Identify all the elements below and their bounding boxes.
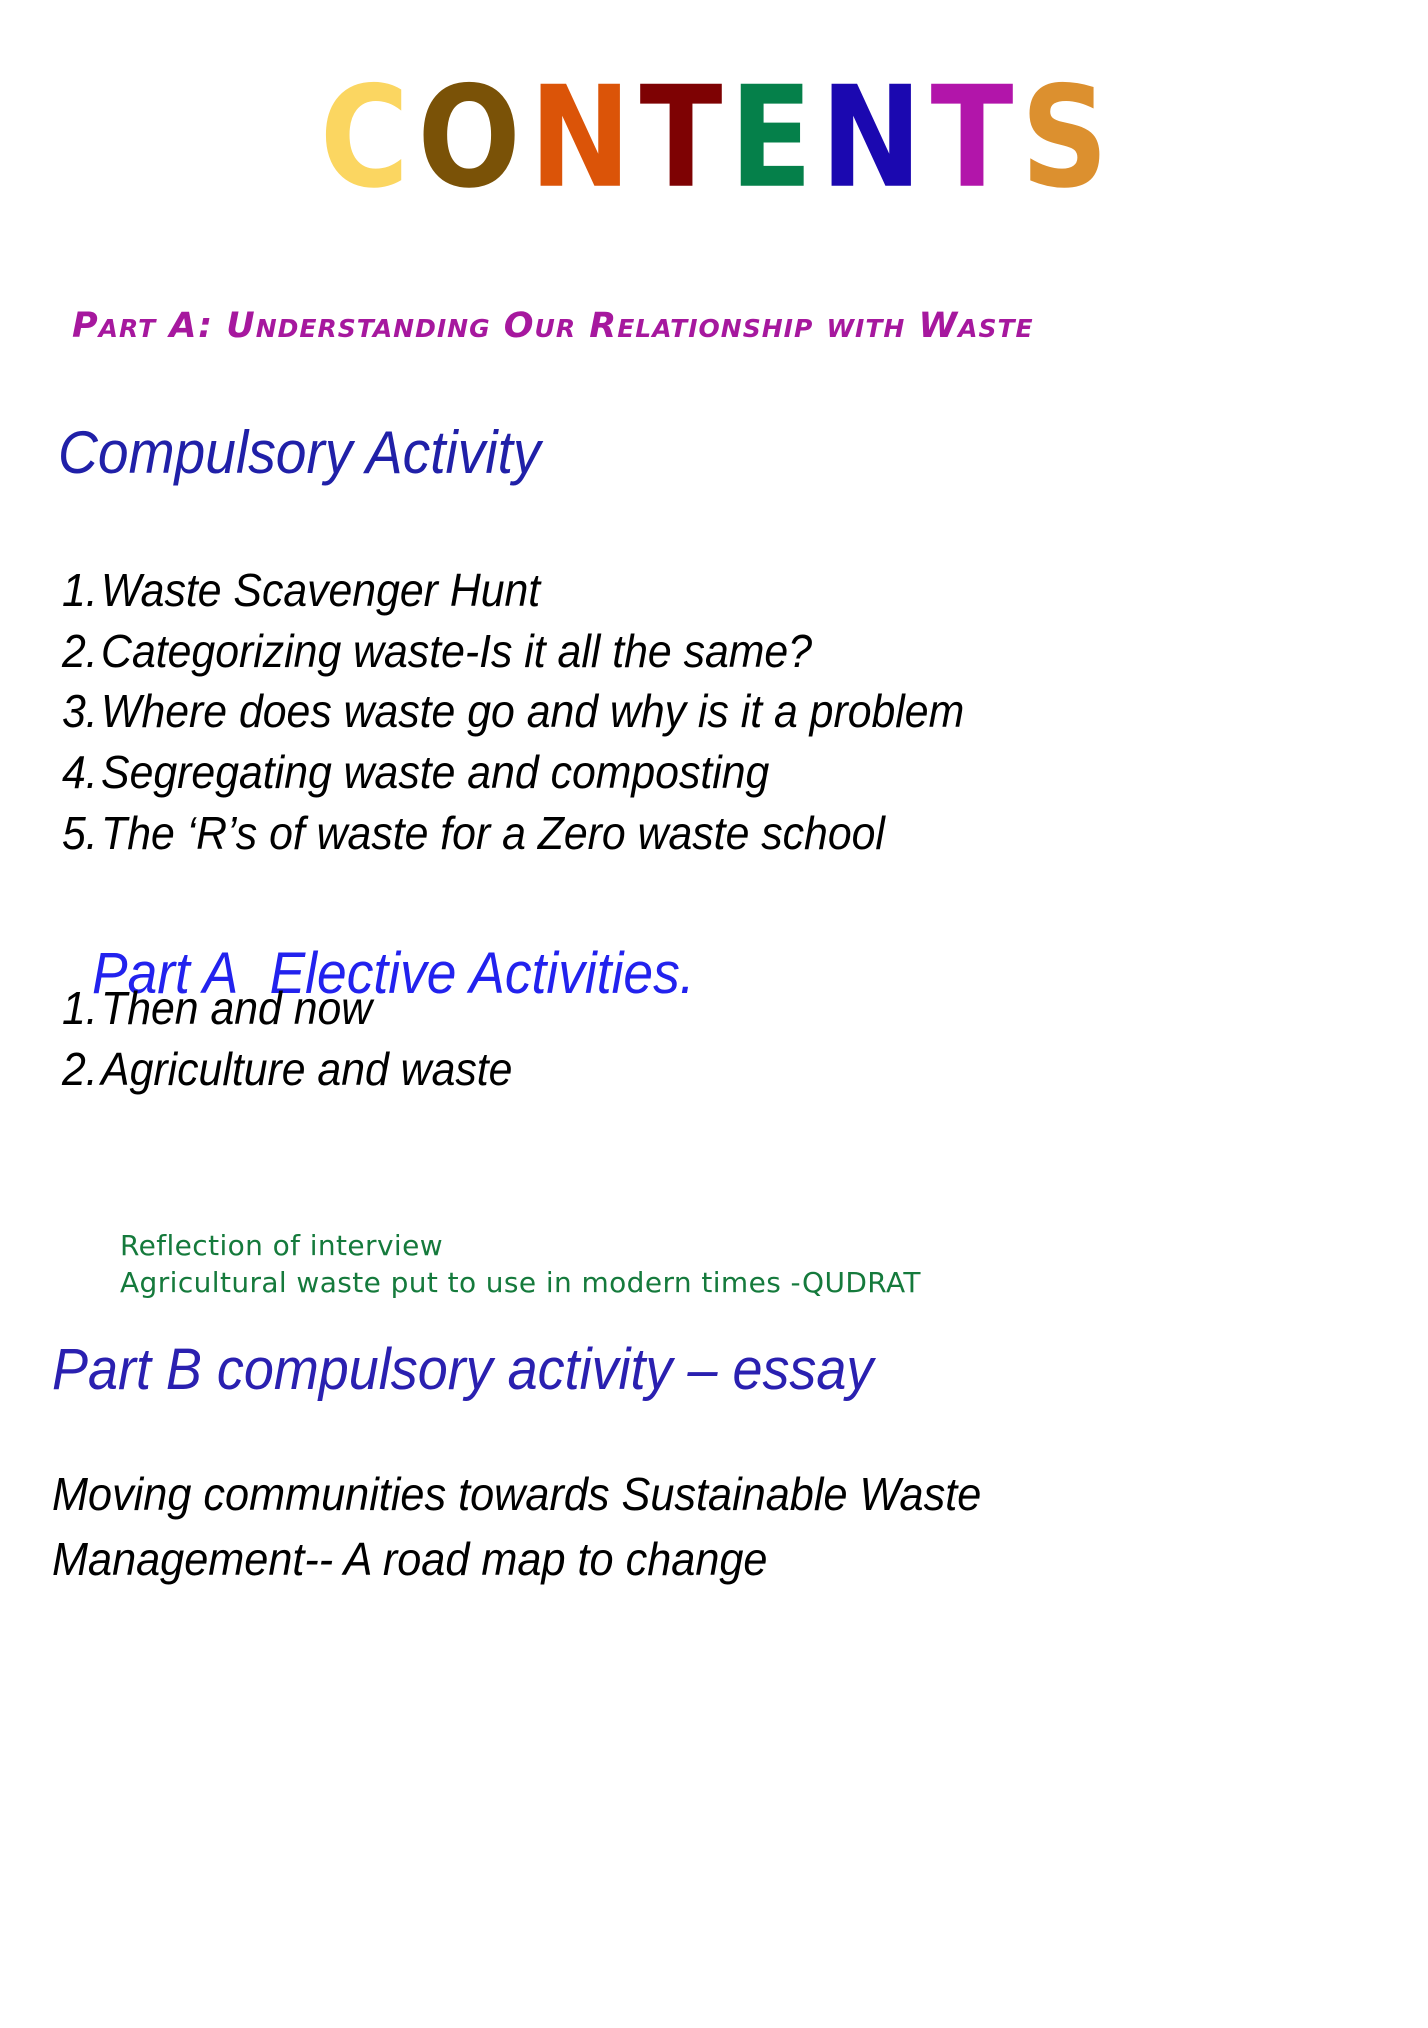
list-item: 1.Waste Scavenger Hunt (62, 560, 964, 621)
list-item: 5.The ‘R’s of waste for a Zero waste sch… (62, 803, 964, 864)
list-item-label: Agriculture and waste (101, 1043, 512, 1095)
essay-line: Moving communities towards Sustainable W… (52, 1462, 1142, 1527)
annotation-line: Reflection of interview (120, 1228, 921, 1265)
list-item-label: Where does waste go and why is it a prob… (101, 685, 964, 737)
title-letter-8: S (1020, 68, 1107, 208)
title-letter-3: N (530, 68, 632, 208)
handwritten-annotation-block: Reflection of interview Agricultural was… (120, 1228, 921, 1302)
list-item-number: 4. (62, 742, 101, 803)
annotation-line: Agricultural waste put to use in modern … (120, 1265, 921, 1302)
list-item-number: 1. (62, 978, 101, 1039)
list-item-number: 2. (62, 1039, 101, 1100)
compulsory-activity-heading: Compulsory Activity (58, 418, 541, 487)
list-item-number: 2. (62, 621, 101, 682)
title-letter-1: C (320, 68, 409, 208)
title-letter-7: T (930, 68, 1013, 208)
list-item-number: 5. (62, 803, 101, 864)
list-item-label: The ‘R’s of waste for a Zero waste schoo… (101, 807, 885, 859)
list-item: 3.Where does waste go and why is it a pr… (62, 681, 964, 742)
compulsory-activity-list: 1.Waste Scavenger Hunt 2.Categorizing wa… (62, 560, 1032, 864)
list-item-number: 1. (62, 560, 101, 621)
list-item-label: Categorizing waste-Is it all the same? (101, 625, 812, 677)
title-letter-2: O (418, 68, 521, 208)
elective-activity-list: 1.Then and now 2.Agriculture and waste (62, 978, 546, 1099)
list-item-label: Then and now (101, 982, 372, 1034)
document-page: CONTENTS Part A: Understanding Our Relat… (0, 0, 1428, 2028)
essay-line: Management-- A road map to change (52, 1527, 1142, 1592)
essay-title-block: Moving communities towards Sustainable W… (52, 1462, 1212, 1593)
part-b-heading: Part B compulsory activity – essay (52, 1336, 873, 1403)
list-item-label: Segregating waste and composting (101, 746, 769, 798)
list-item-label: Waste Scavenger Hunt (101, 564, 540, 616)
list-item: 2.Categorizing waste-Is it all the same? (62, 621, 964, 682)
title-letter-4: T (639, 68, 722, 208)
list-item: 1.Then and now (62, 978, 512, 1039)
list-item: 2.Agriculture and waste (62, 1039, 512, 1100)
page-title: CONTENTS (0, 76, 1428, 208)
part-a-subtitle: Part A: Understanding Our Relationship w… (72, 306, 1034, 346)
title-letter-5: E (730, 68, 813, 208)
list-item-number: 3. (62, 681, 101, 742)
list-item: 4.Segregating waste and composting (62, 742, 964, 803)
title-letter-6: N (821, 68, 923, 208)
